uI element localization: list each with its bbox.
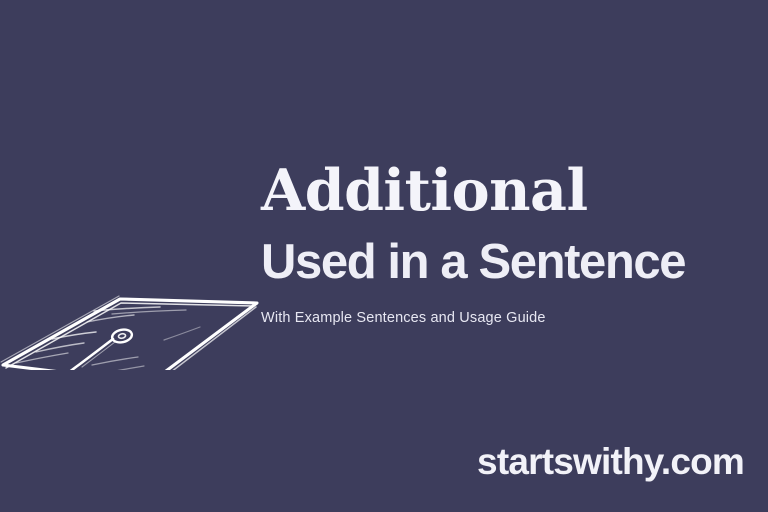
page-subtitle: With Example Sentences and Usage Guide	[261, 308, 761, 328]
mortarboard-edge-highlight-3	[1, 296, 119, 362]
board-hatch-9	[164, 327, 200, 340]
graduation-cap-icon	[0, 140, 262, 370]
board-hatch-3	[16, 353, 68, 363]
mortarboard-outline	[3, 299, 257, 370]
page-title-word: Additional	[261, 160, 761, 222]
board-hatch-1	[52, 332, 96, 339]
board-hatch-4	[87, 315, 134, 322]
cap-button-inner	[118, 333, 126, 339]
site-brand: startswithy.com	[477, 440, 744, 484]
board-hatch-5	[94, 307, 160, 311]
headline-block: Additional Used in a Sentence With Examp…	[261, 160, 761, 328]
cap-button-ring	[111, 328, 133, 344]
graduation-cap-svg	[0, 140, 262, 370]
tassel-cord-highlight	[82, 342, 115, 367]
tassel-cord	[49, 339, 113, 370]
board-hatch-6	[112, 310, 186, 314]
board-hatch-2	[36, 343, 84, 352]
mortarboard-edge-highlight	[6, 303, 254, 368]
page-title-phrase: Used in a Sentence	[261, 234, 761, 290]
board-hatch-7	[92, 357, 138, 365]
board-hatch-8	[104, 366, 144, 370]
mortarboard-edge-highlight-2	[154, 307, 256, 370]
poster-canvas: Additional Used in a Sentence With Examp…	[0, 0, 768, 512]
